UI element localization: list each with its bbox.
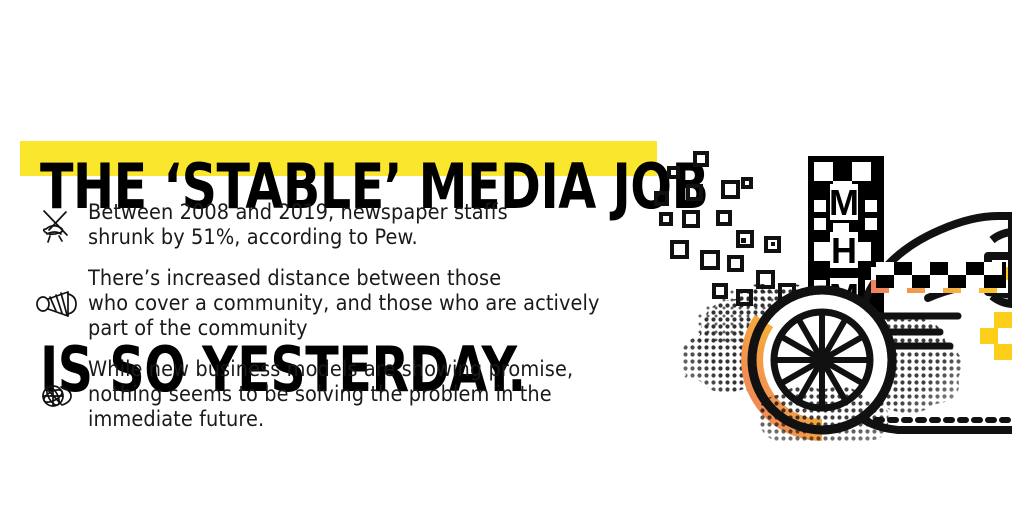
- checkered-side-stripe: [871, 262, 1012, 293]
- list-item: While new business models are showing pr…: [0, 357, 660, 432]
- bullet-list: Between 2008 and 2019, newspaper staffs …: [0, 200, 660, 448]
- headline-block: THE ‘STABLE’ MEDIA JOB IS SO YESTERDAY.: [0, 34, 680, 184]
- scribble-megaphone-icon: [34, 281, 80, 327]
- svg-text:H: H: [831, 230, 857, 271]
- list-item: There’s increased distance between those…: [0, 266, 660, 341]
- scribble-globe-icon: [34, 372, 80, 418]
- scribble-crossed-out-icon: [34, 202, 80, 248]
- slide-canvas: THE ‘STABLE’ MEDIA JOB IS SO YESTERDAY.: [0, 0, 1012, 506]
- svg-text:M: M: [829, 182, 859, 223]
- list-item-label: Between 2008 and 2019, newspaper staffs …: [88, 200, 660, 250]
- pixel-squares-scatter: [656, 153, 794, 304]
- list-item: Between 2008 and 2019, newspaper staffs …: [0, 200, 660, 250]
- list-item-label: There’s increased distance between those…: [88, 266, 660, 341]
- list-item-label: While new business models are showing pr…: [88, 357, 660, 432]
- formula-one-race-car-illustration: M H M: [640, 120, 1012, 450]
